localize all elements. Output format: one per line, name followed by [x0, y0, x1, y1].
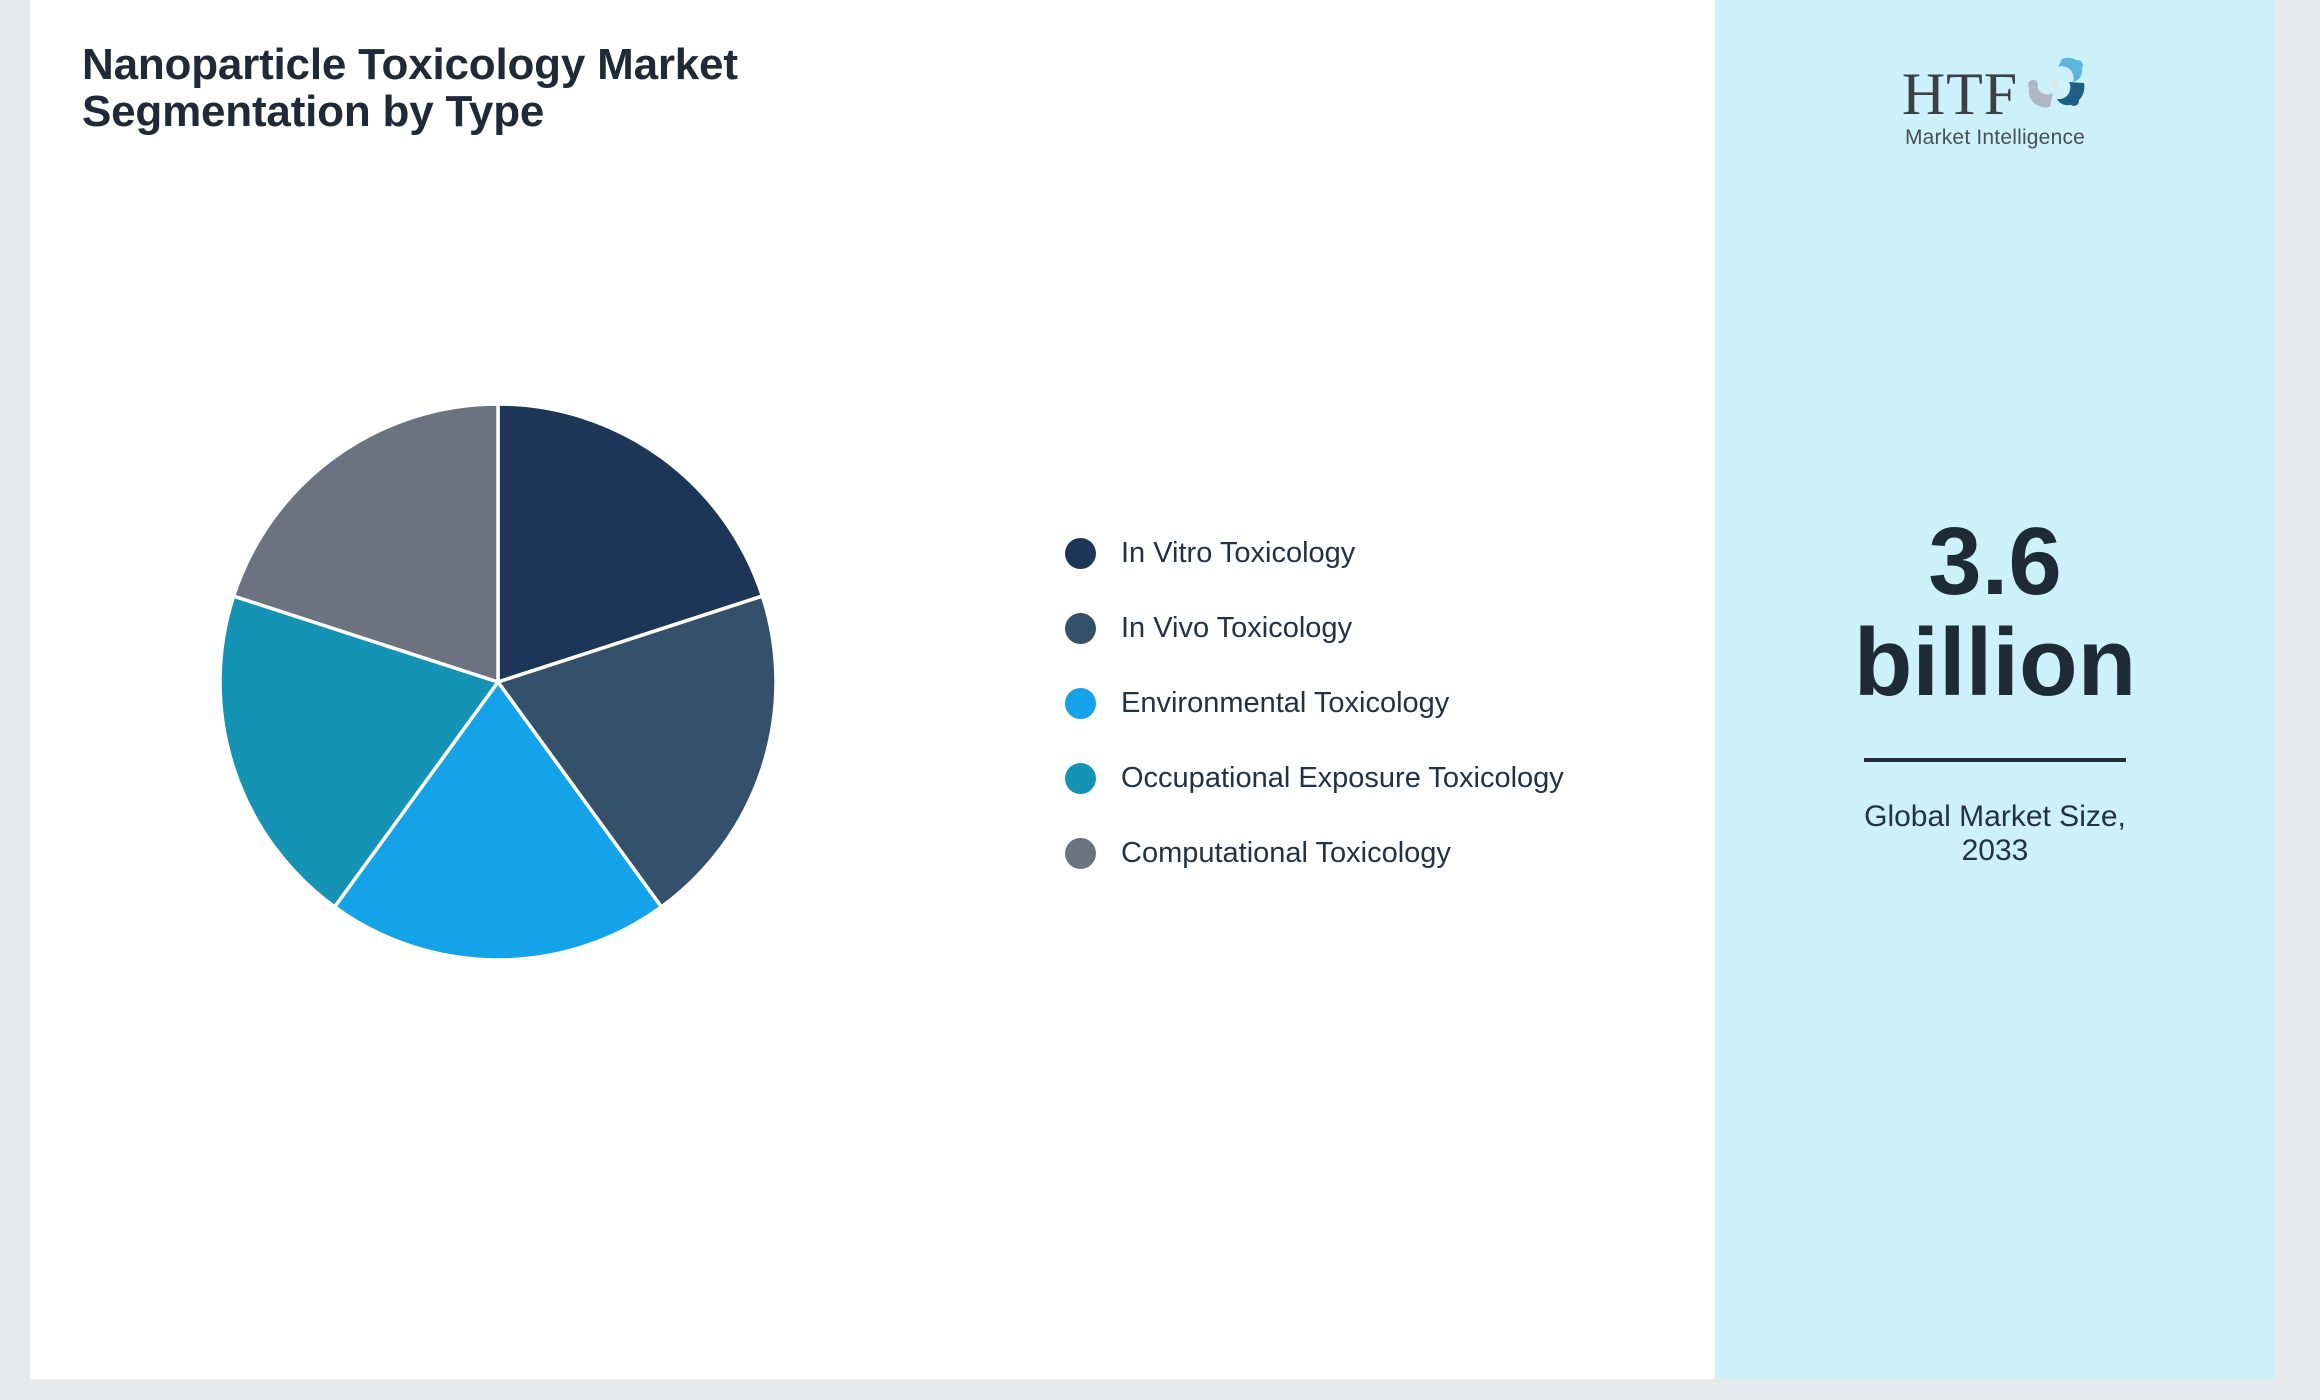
chart-legend: In Vitro ToxicologyIn Vivo ToxicologyEnv… — [1065, 516, 1665, 891]
legend-swatch-icon — [1065, 613, 1096, 644]
legend-item[interactable]: Computational Toxicology — [1065, 816, 1665, 891]
pie-chart-svg — [205, 389, 791, 975]
legend-swatch-icon — [1065, 763, 1096, 794]
page-title: Nanoparticle Toxicology Market Segmentat… — [82, 42, 982, 135]
legend-swatch-icon — [1065, 838, 1096, 869]
stat-value: 3.6 billion — [1795, 511, 2195, 715]
pie-chart — [205, 389, 791, 975]
legend-item-label: Computational Toxicology — [1121, 837, 1451, 870]
legend-swatch-icon — [1065, 538, 1096, 569]
legend-item-label: In Vivo Toxicology — [1121, 612, 1352, 645]
legend-swatch-icon — [1065, 688, 1096, 719]
legend-item[interactable]: Occupational Exposure Toxicology — [1065, 741, 1665, 816]
stat-divider — [1864, 758, 2126, 762]
chart-panel: Nanoparticle Toxicology Market Segmentat… — [30, 0, 1715, 1379]
legend-item[interactable]: In Vivo Toxicology — [1065, 591, 1665, 666]
stat-block: 3.6 billion Global Market Size, 2033 — [1715, 0, 2275, 1379]
legend-item[interactable]: In Vitro Toxicology — [1065, 516, 1665, 591]
sidebar-panel: HTF Market Intelligence 3.6 billion — [1715, 0, 2275, 1379]
legend-item-label: In Vitro Toxicology — [1121, 537, 1355, 570]
legend-item-label: Occupational Exposure Toxicology — [1121, 762, 1564, 795]
stat-caption: Global Market Size, 2033 — [1845, 800, 2145, 868]
legend-item-label: Environmental Toxicology — [1121, 687, 1449, 720]
legend-item[interactable]: Environmental Toxicology — [1065, 666, 1665, 741]
infographic-card: Nanoparticle Toxicology Market Segmentat… — [30, 0, 2275, 1379]
